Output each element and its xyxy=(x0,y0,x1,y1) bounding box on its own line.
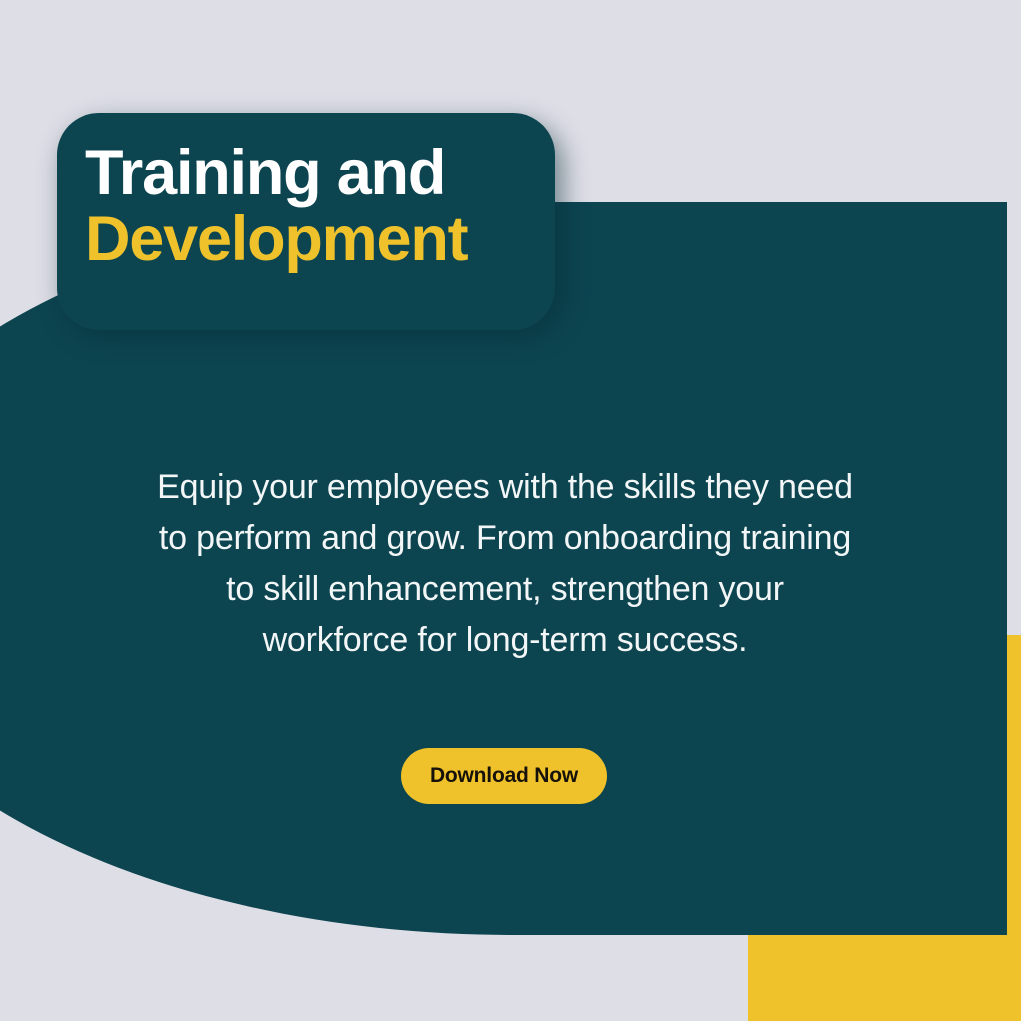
page-title-line-2: Development xyxy=(85,206,555,272)
title-card: Training and Development xyxy=(57,113,555,330)
poster-canvas: Training and Development Equip your empl… xyxy=(0,0,1021,1021)
body-description: Equip your employees with the skills the… xyxy=(150,462,860,666)
download-now-button[interactable]: Download Now xyxy=(401,748,607,804)
page-title-line-1: Training and xyxy=(85,140,555,206)
